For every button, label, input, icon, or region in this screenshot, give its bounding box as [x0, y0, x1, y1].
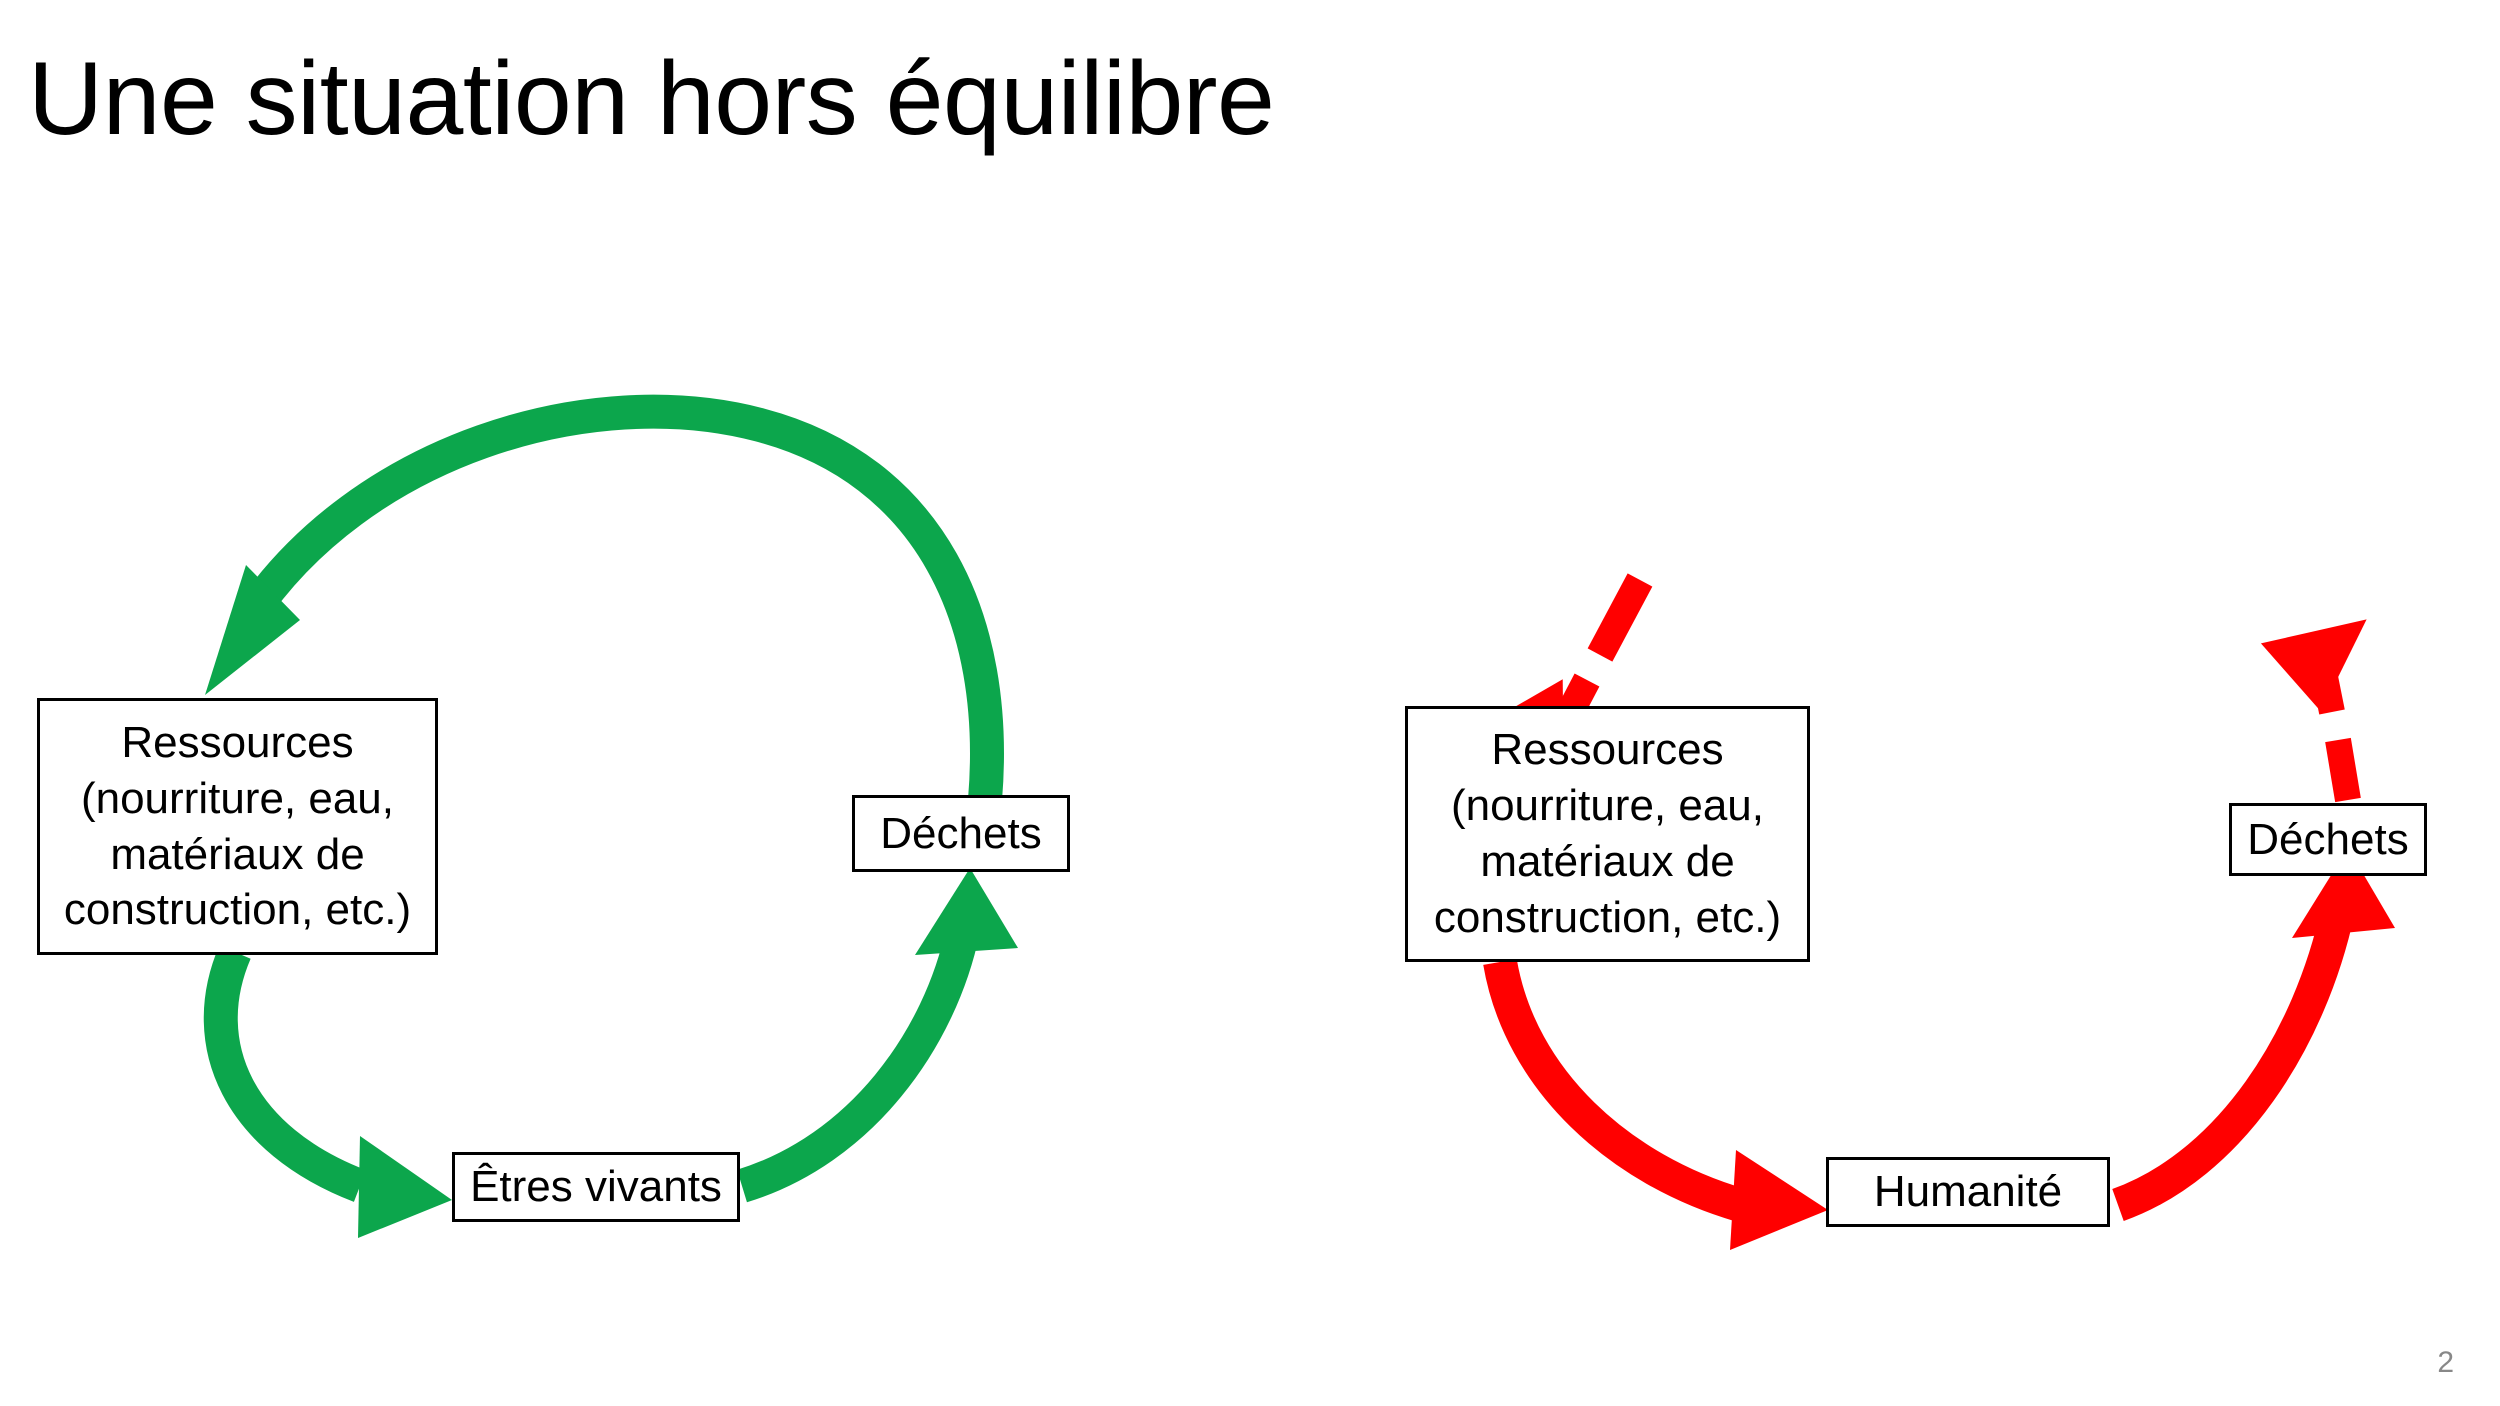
page-title: Une situation hors équilibre [28, 38, 2228, 161]
node-label-line: Ressources [121, 718, 353, 767]
node-label: Humanité [1874, 1164, 2062, 1219]
node-label: Déchets [880, 806, 1041, 861]
node-box-waste-balanced[interactable]: Déchets [852, 795, 1070, 872]
slide-canvas: Une situation hors équilibre [0, 0, 2500, 1406]
node-label: Déchets [2247, 812, 2408, 867]
node-box-waste-unbalanced[interactable]: Déchets [2229, 803, 2427, 876]
arrow-humanity-to-waste [2118, 848, 2395, 1205]
node-label-line: (nourriture, eau, [1451, 781, 1764, 830]
node-label-line: construction, etc.) [1434, 893, 1781, 942]
node-label-line: matériaux de [110, 830, 364, 879]
arrow-resources-to-humanity [1500, 962, 1828, 1250]
node-label: Ressources (nourriture, eau, matériaux d… [64, 715, 411, 939]
node-box-humanity[interactable]: Humanité [1826, 1157, 2110, 1227]
arrow-waste-to-external-output [2260, 619, 2379, 800]
node-box-living-beings[interactable]: Êtres vivants [452, 1152, 740, 1222]
arrow-living-beings-to-waste [742, 868, 1018, 1186]
page-number: 2 [2437, 1346, 2454, 1380]
arrow-resources-to-living-beings [221, 952, 452, 1238]
node-label: Êtres vivants [470, 1159, 722, 1214]
node-label: Ressources (nourriture, eau, matériaux d… [1434, 722, 1781, 946]
node-label-line: (nourriture, eau, [81, 774, 394, 823]
node-box-resources-balanced[interactable]: Ressources (nourriture, eau, matériaux d… [37, 698, 438, 955]
node-label-line: Ressources [1491, 725, 1723, 774]
node-label-line: construction, etc.) [64, 885, 411, 934]
node-label-line: matériaux de [1480, 837, 1734, 886]
node-box-resources-unbalanced[interactable]: Ressources (nourriture, eau, matériaux d… [1405, 706, 1810, 962]
